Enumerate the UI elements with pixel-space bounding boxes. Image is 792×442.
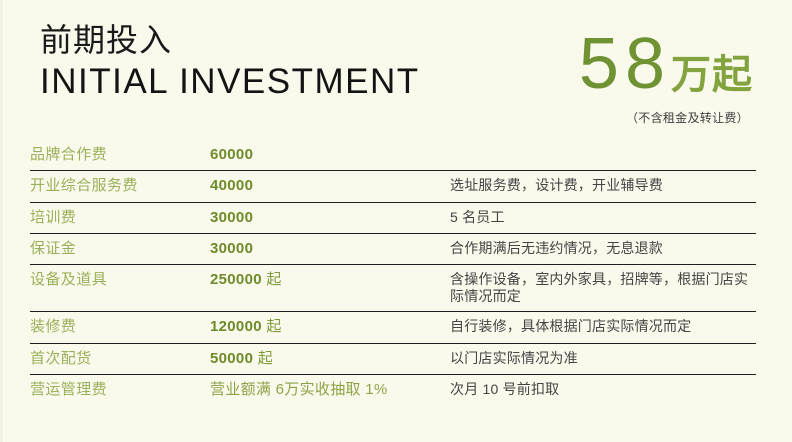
row-value: 120000 起 [210, 312, 450, 343]
row-value: 250000 起 [210, 265, 450, 312]
row-label: 设备及道具 [30, 265, 210, 312]
highlight-block: 58万起 （不含租金及转让费） [579, 28, 753, 126]
row-description: 次月 10 号前扣取 [450, 374, 756, 405]
row-description: 含操作设备，室内外家具，招牌等，根据门店实际情况而定 [450, 265, 756, 312]
row-description: 自行装修，具体根据门店实际情况而定 [450, 312, 756, 343]
slide-header: 前期投入 INITIAL INVESTMENT 58万起 （不含租金及转让费） [3, 0, 792, 140]
row-label: 营运管理费 [30, 374, 210, 405]
row-value: 60000 [210, 140, 450, 171]
row-label: 装修费 [30, 312, 210, 343]
row-description: 选址服务费，设计费，开业辅导费 [450, 171, 756, 202]
row-description: 5 名员工 [450, 202, 756, 233]
row-value: 50000 起 [210, 343, 450, 374]
cost-table-body: 品牌合作费 60000 开业综合服务费 40000 选址服务费，设计费，开业辅导… [30, 140, 756, 405]
highlight-amount-row: 58万起 [579, 28, 753, 100]
row-value-amount: 60000 [210, 146, 253, 163]
table-row: 培训费 30000 5 名员工 [30, 202, 756, 233]
table-row: 品牌合作费 60000 [30, 140, 756, 171]
highlight-note: （不含租金及转让费） [579, 109, 749, 126]
row-description: 合作期满后无违约情况，无息退款 [450, 233, 756, 264]
row-label: 首次配货 [30, 343, 210, 374]
table-row: 开业综合服务费 40000 选址服务费，设计费，开业辅导费 [30, 171, 756, 202]
table-row: 装修费 120000 起 自行装修，具体根据门店实际情况而定 [30, 312, 756, 343]
row-value-amount: 250000 [210, 271, 262, 288]
table-row: 设备及道具 250000 起 含操作设备，室内外家具，招牌等，根据门店实际情况而… [30, 265, 756, 312]
row-value-amount: 120000 [210, 318, 262, 335]
row-value-amount: 40000 [210, 177, 253, 194]
table-row: 首次配货 50000 起 以门店实际情况为准 [30, 343, 756, 374]
row-label: 培训费 [30, 202, 210, 233]
row-value-suffix: 起 [258, 350, 273, 367]
row-label: 开业综合服务费 [30, 171, 210, 202]
row-label: 品牌合作费 [30, 140, 210, 171]
page-title-en: INITIAL INVESTMENT [40, 64, 420, 99]
row-label: 保证金 [30, 233, 210, 264]
highlight-number: 58 [579, 24, 671, 104]
cost-breakdown-table: 品牌合作费 60000 开业综合服务费 40000 选址服务费，设计费，开业辅导… [30, 140, 756, 405]
row-value: 营业额满 6万实收抽取 1% [210, 374, 450, 405]
row-value-amount: 30000 [210, 209, 253, 226]
title-block: 前期投入 INITIAL INVESTMENT [40, 24, 420, 99]
row-value: 30000 [210, 202, 450, 233]
highlight-unit: 万起 [671, 53, 753, 97]
row-value: 30000 [210, 233, 450, 264]
page-title-cn: 前期投入 [40, 24, 420, 56]
row-value-amount: 50000 [210, 350, 253, 367]
slide-root: 前期投入 INITIAL INVESTMENT 58万起 （不含租金及转让费） … [0, 0, 792, 442]
row-value-amount: 30000 [210, 240, 253, 257]
row-value-suffix: 起 [266, 318, 281, 335]
row-description [450, 140, 756, 171]
table-row: 营运管理费 营业额满 6万实收抽取 1% 次月 10 号前扣取 [30, 374, 756, 405]
table-row: 保证金 30000 合作期满后无违约情况，无息退款 [30, 233, 756, 264]
row-value-suffix: 起 [266, 271, 281, 288]
row-description: 以门店实际情况为准 [450, 343, 756, 374]
row-value: 40000 [210, 171, 450, 202]
